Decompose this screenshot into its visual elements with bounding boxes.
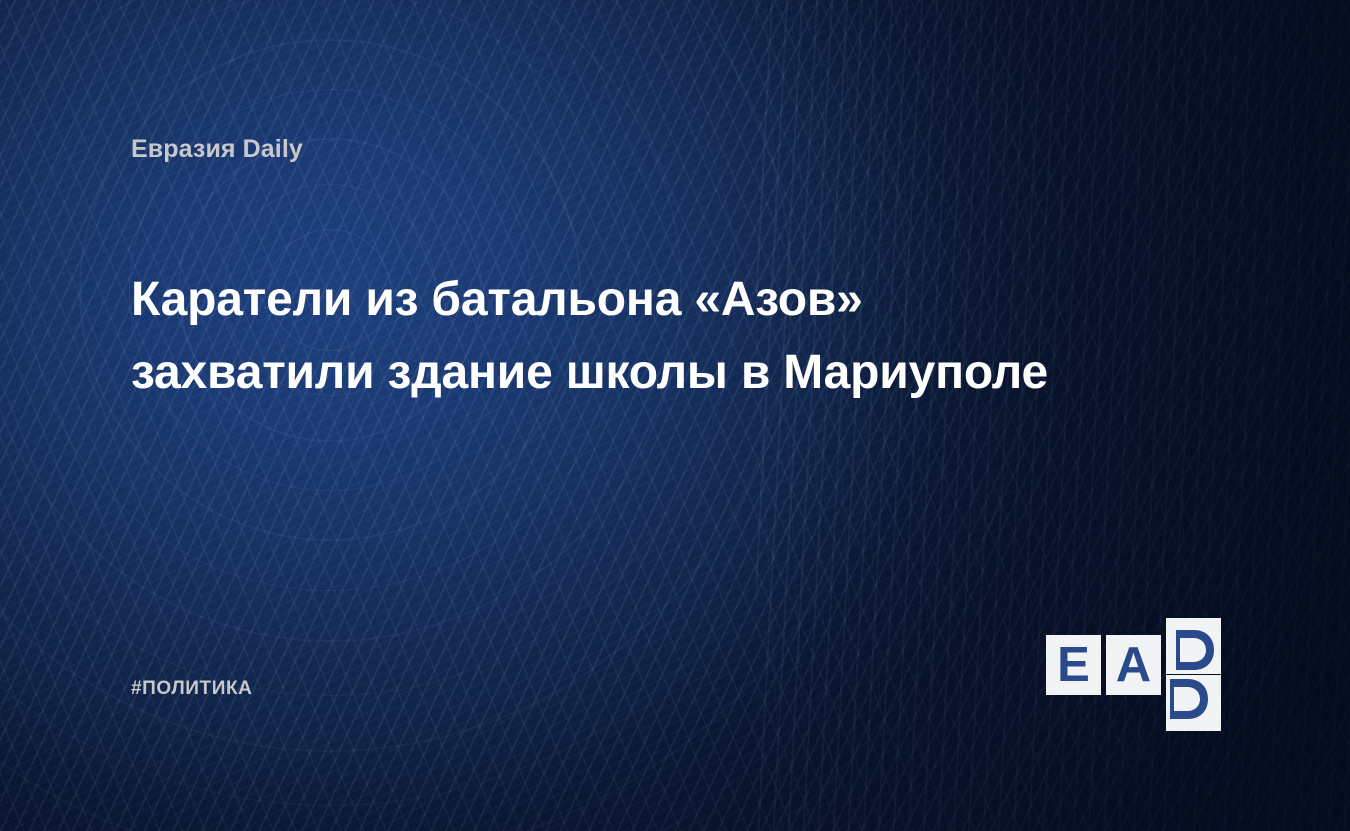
logo-letter-a: A (1106, 635, 1161, 695)
category-hashtag: #ПОЛИТИКА (131, 678, 253, 700)
ead-logo: E A (1046, 618, 1229, 718)
news-card: Евразия Daily Каратели из батальона «Азо… (0, 0, 1350, 831)
headline: Каратели из батальона «Азов» захватили з… (131, 264, 1211, 410)
brand-name: Евразия Daily (131, 135, 303, 164)
card-content: Евразия Daily Каратели из батальона «Азо… (0, 0, 1350, 831)
logo-letter-e: E (1046, 635, 1101, 695)
logo-tile-a: A (1106, 635, 1161, 695)
logo-tile-d-bottom (1166, 675, 1221, 731)
headline-line-2: захватили здание школы в Мариуполе (131, 337, 1211, 410)
logo-letter-d-upper-bowl (1174, 628, 1216, 672)
headline-line-1: Каратели из батальона «Азов» (131, 264, 1211, 337)
logo-tile-e: E (1046, 635, 1101, 695)
logo-tile-d-top (1166, 618, 1221, 674)
logo-letter-d-lower-bowl (1168, 677, 1210, 721)
